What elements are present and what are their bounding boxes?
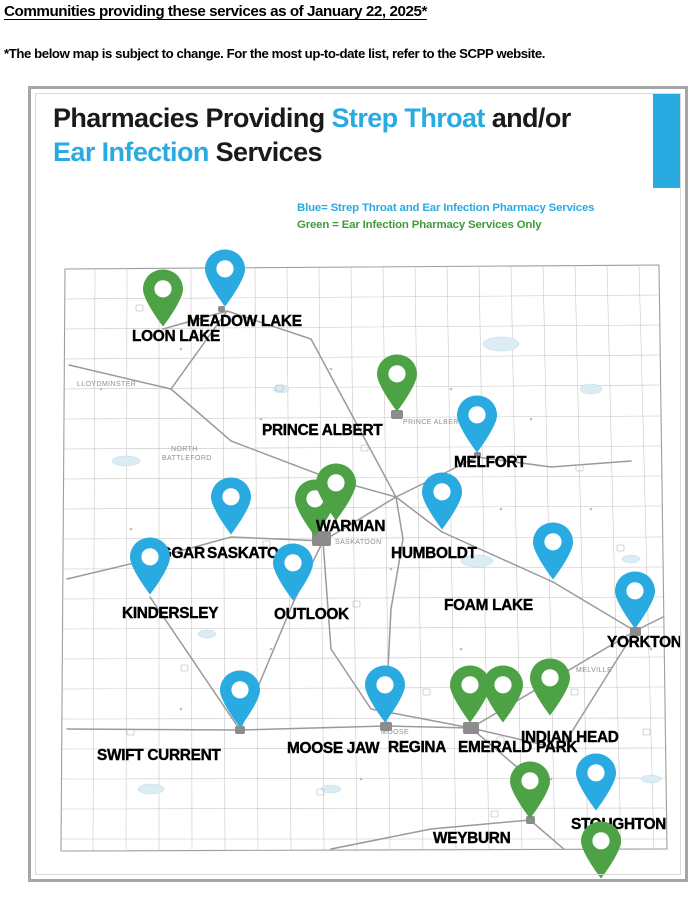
map-marker-outlook[interactable]: [271, 543, 315, 601]
map-marker-prince-albert[interactable]: [375, 354, 419, 412]
map-title: Pharmacies Providing Strep Throat and/or…: [53, 101, 633, 170]
map-title-highlight-strep: Strep Throat: [332, 103, 485, 133]
map-marker-indian-head[interactable]: [528, 658, 572, 716]
map-marker-kindersley[interactable]: [128, 537, 172, 595]
map-label-kindersley: KINDERSLEY: [122, 605, 218, 623]
map-title-text-b: and/or: [485, 103, 571, 133]
map-label-yorkton: YORKTON: [607, 634, 682, 652]
page-title: Communities providing these services as …: [4, 3, 427, 20]
accent-bar: [653, 93, 681, 188]
map-label-prince-albert: PRINCE ALBERT: [262, 422, 382, 440]
map-marker-weyburn[interactable]: [508, 761, 552, 819]
map-label-meadow-lake: MEADOW LAKE: [187, 313, 302, 331]
map-marker-biggar[interactable]: [209, 477, 253, 535]
map-container: LLOYDMINSTER NORTH BATTLEFORD PRINCE ALB…: [28, 86, 688, 882]
map-marker-swift-current[interactable]: [218, 670, 262, 728]
map-title-highlight-ear: Ear Infection: [53, 137, 209, 167]
map-legend: Blue= Strep Throat and Ear Infection Pha…: [297, 200, 594, 234]
map-marker-yorkton[interactable]: [613, 571, 657, 629]
map-title-text-c: Services: [209, 137, 322, 167]
map-marker-foam-lake[interactable]: [531, 522, 575, 580]
map-label-humboldt: HUMBOLDT: [391, 545, 477, 563]
page-header: Communities providing these services as …: [0, 0, 700, 80]
map-label-estevan: ESTEVAN: [580, 880, 649, 882]
map-label-outlook: OUTLOOK: [274, 606, 349, 624]
map-label-warman: WARMAN: [316, 518, 385, 536]
map-label-moose-jaw: MOOSE JAW: [287, 740, 379, 758]
map-marker-warman[interactable]: [314, 463, 358, 521]
map-label-foam-lake: FOAM LAKE: [444, 597, 533, 615]
map-marker-humboldt[interactable]: [420, 472, 464, 530]
map-marker-emerald-park[interactable]: [481, 665, 525, 723]
legend-item-green: Green = Ear Infection Pharmacy Services …: [297, 217, 594, 234]
map-label-regina: REGINA: [388, 739, 446, 757]
map-marker-meadow-lake[interactable]: [203, 249, 247, 307]
map-marker-moose-jaw[interactable]: [363, 665, 407, 723]
map-title-line-1: Pharmacies Providing Strep Throat and/or: [53, 101, 633, 135]
map-label-swift-current: SWIFT CURRENT: [97, 747, 221, 765]
map-marker-stoughton[interactable]: [574, 753, 618, 811]
map-marker-melfort[interactable]: [455, 395, 499, 453]
map-marker-estevan[interactable]: [579, 821, 623, 879]
page-subtitle-disclaimer: *The below map is subject to change. For…: [4, 46, 545, 61]
map-marker-loon-lake[interactable]: [141, 269, 185, 327]
map-title-line-2: Ear Infection Services: [53, 135, 633, 169]
map-label-indian-head: INDIAN HEAD: [521, 729, 619, 747]
map-label-weyburn: WEYBURN: [433, 830, 510, 848]
legend-item-blue: Blue= Strep Throat and Ear Infection Pha…: [297, 200, 594, 217]
map-label-melfort: MELFORT: [454, 454, 526, 472]
map-title-text-a: Pharmacies Providing: [53, 103, 332, 133]
